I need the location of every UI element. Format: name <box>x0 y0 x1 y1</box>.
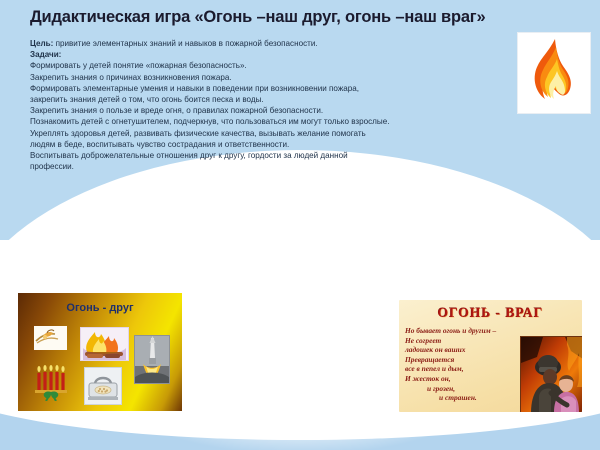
goal-line: Цель: привитие элементарных знаний и нав… <box>30 38 535 49</box>
poem-line: все в пепел и дым, <box>405 364 517 374</box>
poem-line: ладошек он ваших <box>405 345 517 355</box>
task-line: профессии. <box>30 161 535 172</box>
task-line: Укреплять здоровья детей, развивать физи… <box>30 128 535 139</box>
goal-text: привитие элементарных знаний и навыков в… <box>53 39 317 48</box>
card-enemy-title: ОГОНЬ - ВРАГ <box>399 305 582 321</box>
poem-line: И жесток он, <box>405 374 517 384</box>
task-line: Закрепить знания о пользе и вреде огня, … <box>30 105 535 116</box>
candles-icon <box>34 365 68 401</box>
rocket-launch-icon <box>134 335 170 384</box>
slide-canvas: Дидактическая игра «Огонь –наш друг, ого… <box>0 0 600 450</box>
poem-line: и страшен. <box>405 393 517 403</box>
poem-line: Но бывает огонь и другим – <box>405 326 517 336</box>
task-line: закрепить знания детей о том, что огонь … <box>30 94 535 105</box>
hand-with-match-icon <box>34 326 67 350</box>
task-line: Познакомить детей с огнетушителем, подче… <box>30 116 535 127</box>
card-fire-is-enemy[interactable]: ОГОНЬ - ВРАГ Но бывает огонь и другим – … <box>399 300 582 412</box>
task-line: Формировать элементарные умения и навыки… <box>30 83 535 94</box>
flame-icon <box>518 33 590 113</box>
goal-label: Цель: <box>30 39 53 48</box>
stove-icon <box>84 367 122 405</box>
poem-line: и грозен, <box>405 384 517 394</box>
card-fire-is-friend[interactable]: Огонь - друг <box>18 293 182 411</box>
card-friend-title: Огонь - друг <box>18 302 182 314</box>
task-line: Формировать у детей понятие «пожарная бе… <box>30 60 535 71</box>
tasks-header: Задачи: <box>30 49 535 60</box>
bonfire-icon <box>80 327 129 361</box>
poem-line: Превращается <box>405 355 517 365</box>
flame-image-box <box>518 33 590 113</box>
card-enemy-poem: Но бывает огонь и другим – Не согреет ла… <box>405 326 517 403</box>
firefighter-with-child-photo <box>520 336 582 412</box>
task-line: Воспитывать доброжелательные отношения д… <box>30 150 535 161</box>
task-line: Закрепить знания о причинах возникновени… <box>30 72 535 83</box>
poem-line: Не согреет <box>405 336 517 346</box>
task-line: людям в беде, воспитывать чувство состра… <box>30 139 535 150</box>
slide-title: Дидактическая игра «Огонь –наш друг, ого… <box>30 8 575 27</box>
slide-body-text: Цель: привитие элементарных знаний и нав… <box>30 38 535 172</box>
